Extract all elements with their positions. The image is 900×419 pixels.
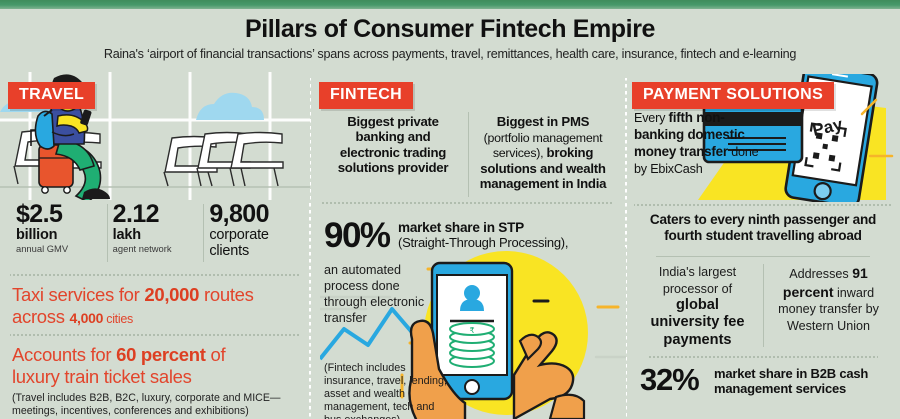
luxury-pre: Accounts for (12, 344, 116, 365)
infographic-root: Pillars of Consumer Fintech Empire Raina… (0, 0, 900, 419)
university-pre: India's largest processor of (659, 265, 736, 296)
payment-divider-3 (648, 356, 878, 358)
header: Pillars of Consumer Fintech Empire Raina… (0, 9, 900, 72)
page-title: Pillars of Consumer Fintech Empire (0, 15, 900, 44)
payment-lead: Every fifth non-banking domestic money t… (634, 110, 762, 178)
fintech-col-banking: Biggest private banking and electronic t… (318, 114, 468, 191)
b2b-percent-value: 32% (640, 364, 698, 395)
taxi-cities-value: 4,000 (70, 310, 104, 326)
pms-bold-1: Biggest in PMS (497, 114, 589, 129)
fintech-note: (Fintech includes insurance, travel, len… (324, 362, 454, 419)
fintech-top-columns: Biggest private banking and electronic t… (318, 114, 618, 191)
luxury-post: of (206, 344, 226, 365)
wu-pre: Addresses (789, 267, 852, 281)
section-fintech: FINTECH Biggest private banking and elec… (310, 72, 626, 419)
taxi-pre: Taxi services for (12, 284, 144, 305)
badge-payment: PAYMENT SOLUTIONS (632, 82, 834, 109)
stat-clients-value: 9,800 (209, 202, 294, 227)
taxi-routes-value: 20,000 (144, 284, 199, 305)
top-green-band (0, 0, 900, 9)
payment-lead-pre: Every (634, 111, 669, 125)
payment-divider-2 (656, 256, 870, 257)
fintech-divider-1 (322, 202, 614, 204)
stat-gmv-label: annual GMV (16, 244, 101, 255)
stat-clients: 9,800 corporate clients (203, 202, 300, 268)
stat-agents-unit: lakh (113, 227, 198, 243)
stp-label-bold: market share in STP (398, 220, 524, 235)
luxury-percent-value: 60 percent (116, 344, 206, 365)
taxi-line2-pre: across (12, 306, 70, 327)
stp-body: an automated process done through electr… (324, 262, 434, 326)
travel-divider-1 (10, 274, 300, 276)
stp-label-regular: (Straight-Through Processing), (398, 235, 568, 250)
taxi-mid: routes (199, 284, 253, 305)
travel-divider-2 (10, 334, 300, 336)
stat-agents-value: 2.12 (113, 202, 198, 227)
stat-clients-unit: corporate (209, 227, 294, 243)
payment-heading: Caters to every ninth passenger and four… (632, 212, 894, 245)
page-subtitle: Raina's ‘airport of financial transactio… (0, 47, 900, 61)
payment-divider-1 (634, 204, 892, 206)
stat-agents-label: agent network (113, 244, 198, 255)
stat-gmv: $2.5 billion annual GMV (10, 202, 107, 268)
luxury-line2: luxury train ticket sales (12, 366, 192, 387)
stat-gmv-unit: billion (16, 227, 101, 243)
stat-clients-unit2: clients (209, 243, 294, 259)
payment-col-western-union: Addresses 91 percent inward money transf… (763, 264, 894, 349)
svg-text:₹: ₹ (469, 326, 474, 335)
payment-columns: India's largest processor of global univ… (632, 264, 894, 349)
badge-fintech: FINTECH (319, 82, 413, 109)
payment-col-university: India's largest processor of global univ… (632, 264, 763, 349)
taxi-line2-post: cities (103, 312, 133, 326)
university-bold: global university fee payments (640, 297, 755, 349)
badge-travel: TRAVEL (8, 82, 95, 109)
section-payment: Pay PAYMENT SOLUTIONS Every fifth non-ba… (626, 72, 900, 419)
section-travel: TRAVEL $2.5 billion annual GMV 2.12 lakh… (0, 72, 310, 419)
stat-gmv-value: $2.5 (16, 202, 101, 227)
stp-label: market share in STP (Straight-Through Pr… (398, 220, 613, 251)
b2b-label: market share in B2B cash management serv… (714, 366, 894, 396)
travel-note: (Travel includes B2B, B2C, luxury, corpo… (12, 392, 296, 417)
stp-percent-value: 90% (324, 218, 390, 253)
travel-stats: $2.5 billion annual GMV 2.12 lakh agent … (10, 202, 300, 268)
travel-taxi-line: Taxi services for 20,000 routes across 4… (12, 284, 302, 328)
stat-agents: 2.12 lakh agent network (107, 202, 204, 268)
travel-luxury-line: Accounts for 60 percent of luxury train … (12, 344, 302, 388)
fintech-col-pms: Biggest in PMS (portfolio management ser… (468, 114, 618, 191)
